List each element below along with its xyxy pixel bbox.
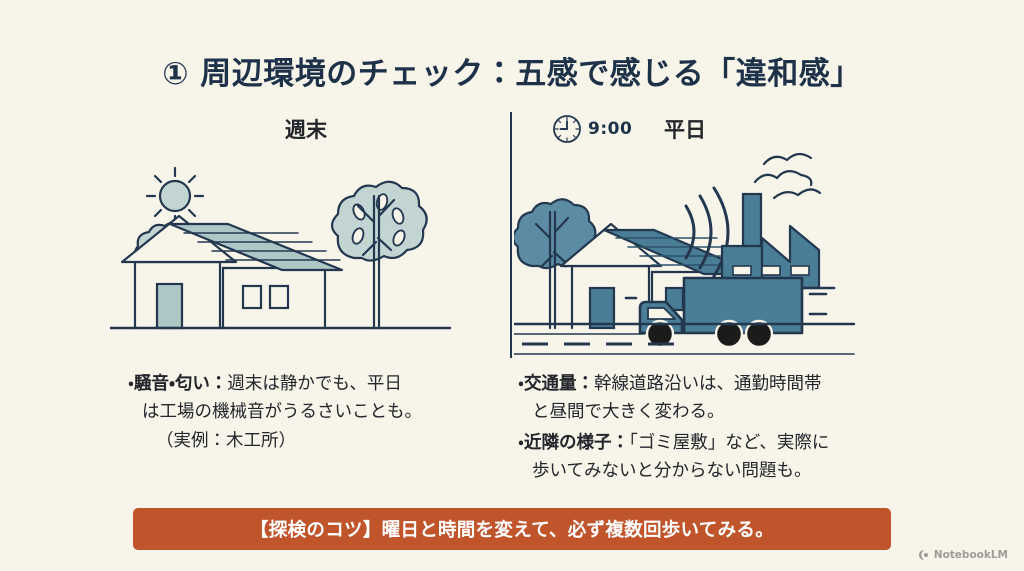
bullet-item: ・交通量：幹線道路沿いは、通勤時間帯 と昼間で大きく変わる。 [518,370,910,427]
bullet-line: は工場の機械音がうるさいことも。 [128,398,508,426]
bullet-lead: 騒音・匂い： [134,374,227,394]
bullets-weekend: ・騒音・匂い：週末は静かでも、平日 は工場の機械音がうるさいことも。 （実例：木… [128,370,508,457]
tree-icon [332,182,427,328]
clock-time-label: 9:00 [588,119,632,139]
panel-weekday: 9:00 平日 [514,110,910,360]
bullet-lead: 交通量： [524,374,594,394]
notebooklm-label: NotebookLM [934,549,1008,561]
bullet-item: ・騒音・匂い：週末は静かでも、平日 は工場の機械音がうるさいことも。 （実例：木… [128,370,508,455]
tip-banner: 【探検のコツ】曜日と時間を変えて、必ず複数回歩いてみる。 [133,508,891,550]
weekend-illustration [110,138,506,360]
bullet-item: ・近隣の様子：「ゴミ屋敷」など、実際に 歩いてみないと分からない問題も。 [518,429,910,486]
comparison-panels: 週末 [110,110,910,360]
weekend-scene [110,138,506,360]
tip-banner-text: 【探検のコツ】曜日と時間を変えて、必ず複数回歩いてみる。 [250,516,774,542]
sun-icon [147,168,203,224]
bullet-line: ・近隣の様子：「ゴミ屋敷」など、実際に [518,429,910,457]
notebooklm-logo-icon [918,549,930,561]
bullet-lead: 近隣の様子： [524,433,629,453]
weekday-illustration [514,138,910,360]
bullet-text: 「ゴミ屋敷」など、実際に [629,433,829,453]
bullet-line: 歩いてみないと分からない問題も。 [518,457,910,485]
panel-divider [510,112,512,358]
weekday-scene [514,138,910,360]
bullet-line: ・騒音・匂い：週末は静かでも、平日 [128,370,508,398]
panel-weekend: 週末 [110,110,506,360]
notebooklm-watermark: NotebookLM [918,549,1008,561]
bullets-weekday: ・交通量：幹線道路沿いは、通勤時間帯 と昼間で大きく変わる。 ・近隣の様子：「ゴ… [518,370,910,487]
slide-root: ① 周辺環境のチェック：五感で感じる「違和感」 週末 [0,0,1024,571]
bullet-line: と昼間で大きく変わる。 [518,398,910,426]
smoke-icon [755,154,820,198]
bullet-line: ・交通量：幹線道路沿いは、通勤時間帯 [518,370,910,398]
bullet-line: （実例：木工所） [128,427,508,455]
page-title: ① 周辺環境のチェック：五感で感じる「違和感」 [0,48,1024,93]
bullet-text: 週末は静かでも、平日 [227,374,401,394]
bullet-text: 幹線道路沿いは、通勤時間帯 [594,374,822,394]
